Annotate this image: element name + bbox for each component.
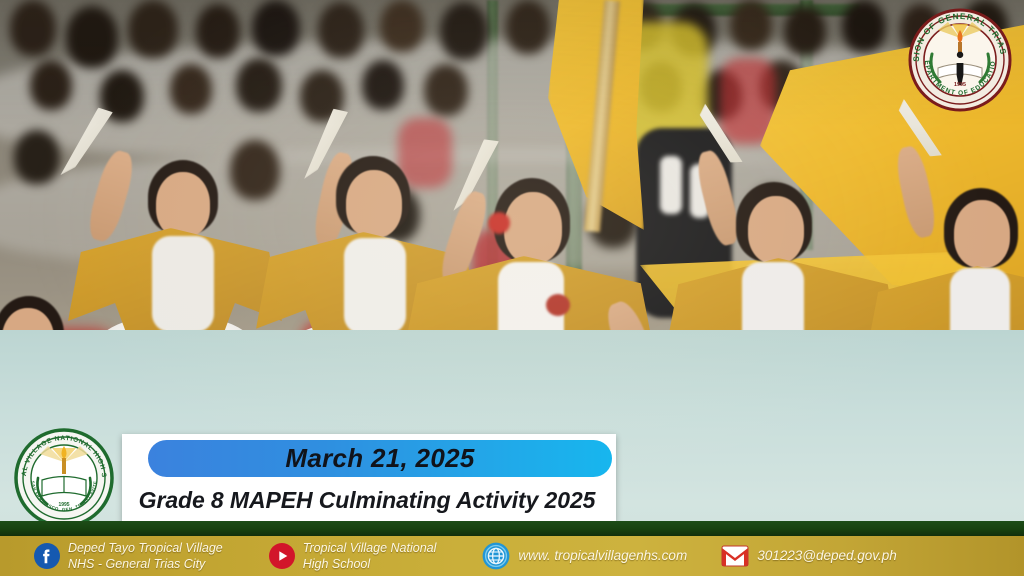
seal-year: 1995 (954, 82, 966, 88)
dancer-torso (152, 236, 214, 332)
hair-flower (488, 212, 510, 234)
tropical-village-nhs-logo: TROPICAL VILLAGE NATIONAL HIGH SCHOOL SA… (14, 428, 114, 528)
crowd-head (252, 0, 300, 56)
footer-item-email[interactable]: 301223@deped.gov.ph (721, 544, 897, 568)
event-poster: DIVISION OF GENERAL TRIAS CITY DEPARTMEN… (0, 0, 1024, 576)
date-banner: March 21, 2025 (148, 440, 612, 477)
globe-icon[interactable] (482, 542, 510, 570)
crowd-head (196, 4, 240, 58)
footer-item-facebook[interactable]: Deped Tayo Tropical Village NHS - Genera… (34, 540, 223, 572)
crowd-head (14, 130, 60, 184)
footer-item-website[interactable]: www. tropicalvillagenhs.com (482, 542, 687, 570)
website-url: www. tropicalvillagenhs.com (518, 547, 687, 564)
crowd-head (730, 0, 772, 50)
dancer-torso (344, 238, 406, 334)
dancer-head (748, 196, 804, 264)
facebook-page-line1: Deped Tayo Tropical Village (68, 540, 223, 556)
youtube-icon[interactable] (269, 543, 295, 569)
dancer-head (346, 170, 402, 238)
youtube-channel-line2: High School (303, 556, 437, 572)
crowd-head (440, 2, 488, 60)
crowd-head (842, 0, 886, 52)
event-date: March 21, 2025 (285, 443, 474, 474)
school-logo-year: 1995 (58, 502, 69, 508)
gmail-icon[interactable] (721, 544, 749, 568)
email-address: 301223@deped.gov.ph (757, 547, 897, 564)
crowd-head (236, 58, 282, 112)
crowd-head (66, 6, 118, 68)
shawl-brooch (546, 294, 570, 316)
crowd-head (170, 64, 212, 114)
deped-division-seal: DIVISION OF GENERAL TRIAS CITY DEPARTMEN… (908, 8, 1012, 112)
event-title: Grade 8 MAPEH Culminating Activity 2025 (122, 481, 612, 519)
crowd-head (128, 0, 178, 58)
crowd-head (10, 0, 56, 56)
dancer-head (504, 192, 562, 264)
youtube-channel-line1: Tropical Village National (303, 540, 437, 556)
crowd-shirt-print (660, 156, 682, 214)
footer-item-youtube[interactable]: Tropical Village National High School (269, 540, 437, 572)
green-divider-strip (0, 521, 1024, 536)
crowd-head (380, 0, 424, 52)
crowd-head (362, 60, 404, 110)
facebook-icon[interactable] (34, 543, 60, 569)
facebook-page-line2: NHS - General Trias City (68, 556, 223, 572)
title-card: March 21, 2025 Grade 8 MAPEH Culminating… (122, 434, 616, 522)
crowd-head (230, 140, 280, 200)
crowd-head (30, 60, 72, 110)
crowd-head (424, 64, 468, 116)
crowd-head (784, 6, 826, 56)
dancer-head (156, 172, 210, 238)
crowd-head (318, 2, 364, 58)
contact-footer: Deped Tayo Tropical Village NHS - Genera… (0, 536, 1024, 576)
crowd-head (506, 0, 550, 54)
dancer-head (954, 200, 1010, 268)
